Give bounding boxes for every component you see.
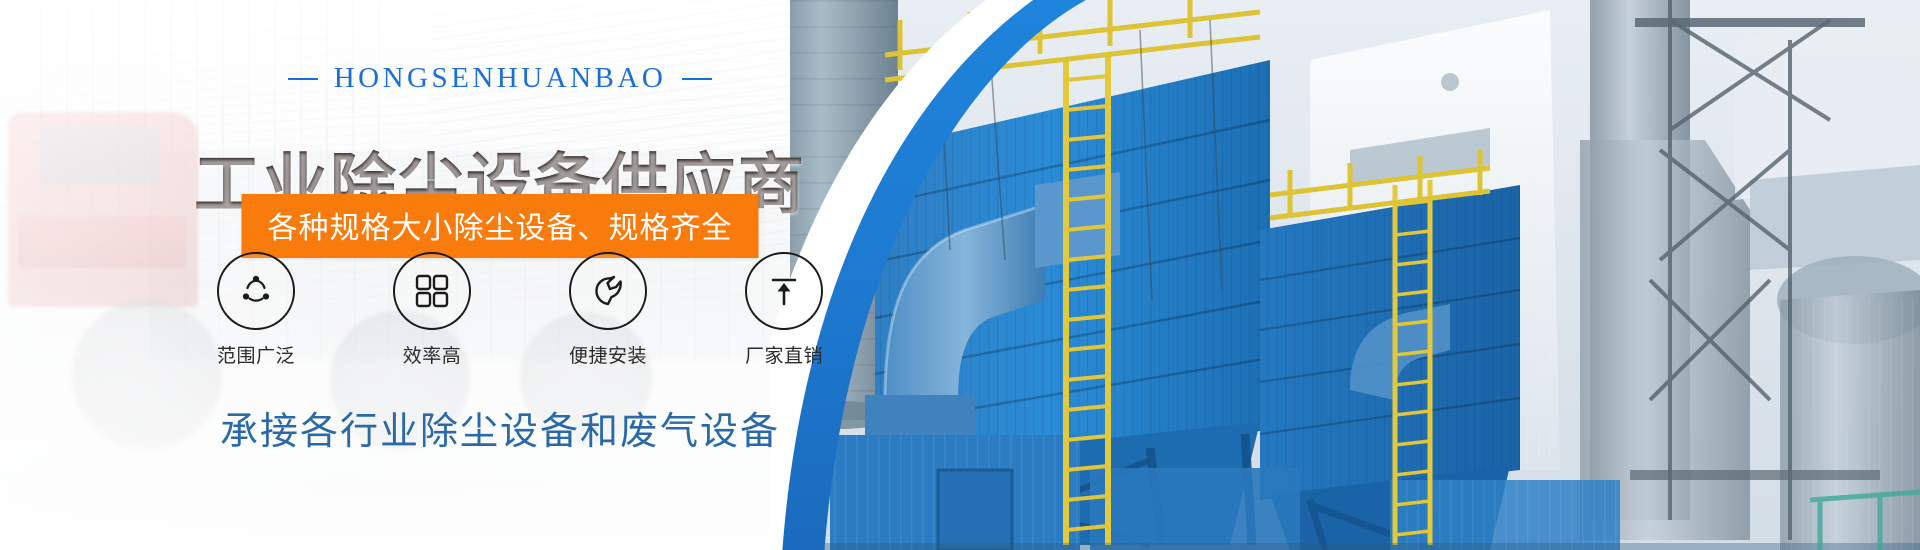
- brand-name: HONGSENHUANBAO: [334, 62, 667, 95]
- tagline: 承接各行业除尘设备和废气设备: [0, 400, 1000, 455]
- feature-label: 效率高: [403, 341, 462, 368]
- grid-squares-icon: [393, 252, 471, 330]
- subheadline-highlight-bar: 各种规格大小除尘设备、规格齐全: [242, 194, 759, 258]
- eyebrow-dash-right: [682, 78, 712, 80]
- feature-item: 厂家直销: [729, 252, 839, 368]
- feature-label: 便捷安装: [569, 341, 647, 368]
- promo-banner: HONGSENHUANBAO 工业除尘设备供应商 各种规格大小除尘设备、规格齐全: [0, 0, 1920, 550]
- eyebrow-dash-left: [288, 78, 318, 80]
- wrench-icon: [569, 252, 647, 330]
- feature-label: 厂家直销: [745, 341, 823, 368]
- feature-item: 范围广泛: [201, 252, 311, 368]
- banner-copy-block: HONGSENHUANBAO 工业除尘设备供应商 各种规格大小除尘设备、规格齐全: [0, 0, 1000, 550]
- share-nodes-icon: [217, 252, 295, 330]
- upload-arrow-icon: [745, 252, 823, 330]
- brand-eyebrow: HONGSENHUANBAO: [0, 62, 1000, 95]
- feature-item: 便捷安装: [553, 252, 663, 368]
- feature-label: 范围广泛: [217, 341, 295, 368]
- feature-item: 效率高: [377, 252, 487, 368]
- feature-list: 范围广泛 效率高: [0, 252, 1000, 368]
